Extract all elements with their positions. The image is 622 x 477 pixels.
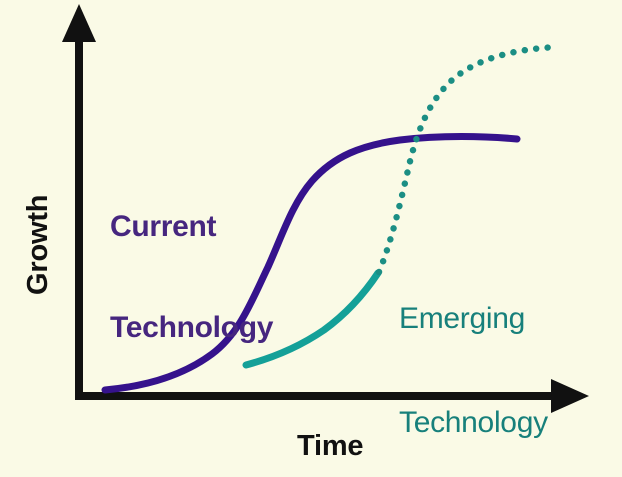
x-axis-label: Time [297,430,363,462]
current-technology-label: Current Technology [110,142,273,413]
emerging-technology-label: Emerging Technology [399,232,548,477]
emerging-technology-label-line1: Emerging [399,302,548,337]
y-axis-arrowhead [62,4,96,42]
x-axis-arrowhead [551,379,589,413]
current-technology-label-line1: Current [110,210,273,244]
y-axis [62,4,96,399]
chart-figure: Growth Time Current Technology Emerging … [0,0,622,477]
y-axis-label: Growth [22,195,54,295]
emerging-technology-label-line2: Technology [399,406,548,441]
current-technology-label-line2: Technology [110,311,273,345]
